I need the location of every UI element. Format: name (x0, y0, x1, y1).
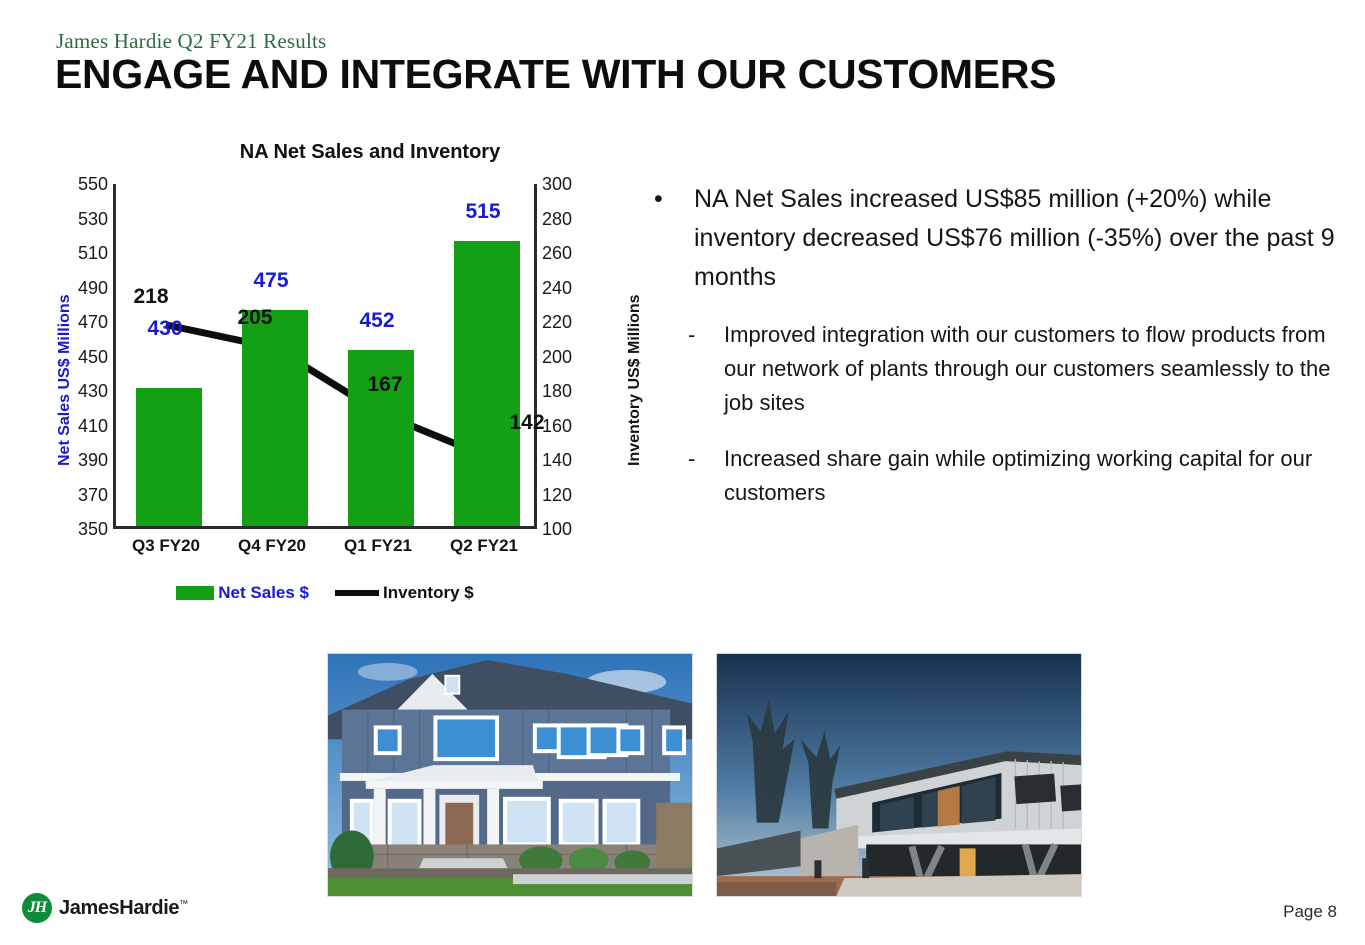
right-axis-tick: 120 (542, 486, 572, 504)
legend-item-net-sales: Net Sales $ (176, 583, 309, 603)
logo-wordmark-text: JamesHardie (59, 897, 179, 919)
left-axis-tick: 410 (78, 417, 108, 435)
right-axis-tick: 300 (542, 175, 572, 193)
right-axis-tick: 220 (542, 313, 572, 331)
james-hardie-logo: JH JamesHardie™ (22, 893, 188, 923)
left-axis-tick: 390 (78, 451, 108, 469)
right-axis-tick: 280 (542, 210, 572, 228)
left-axis-tick: 450 (78, 348, 108, 366)
category-axis-labels: Q3 FY20Q4 FY20Q1 FY21Q2 FY21 (113, 536, 537, 564)
left-axis-tick: 550 (78, 175, 108, 193)
line-value-label: 142 (492, 411, 562, 435)
chart-title: NA Net Sales and Inventory (170, 141, 570, 164)
sub-bullet-text: Improved integration with our customers … (724, 322, 1331, 415)
inventory-line-path (169, 326, 487, 457)
bar-value-label: 452 (342, 309, 412, 333)
right-axis-tick: 260 (542, 244, 572, 262)
category-label: Q1 FY21 (325, 536, 431, 556)
line-value-label: 205 (220, 306, 290, 330)
bar-value-label: 475 (236, 269, 306, 293)
trademark-icon: ™ (179, 898, 188, 908)
bar-value-label: 515 (448, 200, 518, 224)
logo-wordmark: JamesHardie™ (59, 897, 188, 920)
main-bullet-text: NA Net Sales increased US$85 million (+2… (694, 185, 1335, 291)
left-axis-title: Net Sales US$ Millions (56, 294, 74, 466)
sub-bullet-marker-icon: - (688, 442, 695, 476)
sub-bullet-marker-icon: - (688, 318, 695, 352)
category-label: Q3 FY20 (113, 536, 219, 556)
legend-label-inventory: Inventory $ (383, 583, 474, 603)
line-swatch-icon (335, 590, 379, 596)
left-axis-tick: 430 (78, 382, 108, 400)
bar-q3-fy20 (136, 388, 202, 526)
left-axis-tick: 510 (78, 244, 108, 262)
jh-monogram-icon: JH (22, 893, 52, 923)
bullet-list: • NA Net Sales increased US$85 million (… (648, 180, 1338, 532)
bullet-marker-icon: • (654, 180, 663, 219)
right-axis-tick: 140 (542, 451, 572, 469)
na-net-sales-and-inventory-chart: NA Net Sales and Inventory 5505305104904… (40, 136, 640, 621)
legend-item-inventory: Inventory $ (335, 583, 474, 603)
slide: James Hardie Q2 FY21 Results ENGAGE AND … (0, 0, 1365, 945)
bar-value-label: 430 (130, 317, 200, 341)
left-axis-tick: 370 (78, 486, 108, 504)
line-value-label: 218 (116, 285, 186, 309)
bar-q2-fy21 (454, 241, 520, 526)
blue-craftsman-home-photo (327, 653, 693, 897)
page-title: ENGAGE AND INTEGRATE WITH OUR CUSTOMERS (55, 51, 1056, 98)
chart-legend: Net Sales $ Inventory $ (113, 578, 537, 608)
left-axis-tick: 470 (78, 313, 108, 331)
right-axis-ticks: 300280260240220200180160140120100 (542, 184, 602, 529)
legend-label-net-sales: Net Sales $ (218, 583, 309, 603)
line-value-label: 167 (350, 373, 420, 397)
right-axis-tick: 200 (542, 348, 572, 366)
left-axis-tick: 530 (78, 210, 108, 228)
page-number: Page 8 (1283, 902, 1337, 922)
right-axis-tick: 180 (542, 382, 572, 400)
chart-plot-area: 430475452515218205167142 (113, 184, 537, 529)
bar-q4-fy20 (242, 310, 308, 526)
sub-bullet: - Increased share gain while optimizing … (648, 442, 1338, 510)
category-label: Q2 FY21 (431, 536, 537, 556)
main-bullet: • NA Net Sales increased US$85 million (… (648, 180, 1338, 297)
sub-bullet: - Improved integration with our customer… (648, 318, 1338, 420)
modern-architecture-home-photo (716, 653, 1082, 897)
right-axis-title: Inventory US$ Millions (626, 294, 644, 466)
bar-swatch-icon (176, 586, 214, 600)
right-axis-tick: 240 (542, 279, 572, 297)
category-label: Q4 FY20 (219, 536, 325, 556)
left-axis-tick: 350 (78, 520, 108, 538)
left-axis-tick: 490 (78, 279, 108, 297)
right-axis-tick: 100 (542, 520, 572, 538)
sub-bullet-list: - Improved integration with our customer… (648, 318, 1338, 510)
sub-bullet-text: Increased share gain while optimizing wo… (724, 446, 1312, 505)
